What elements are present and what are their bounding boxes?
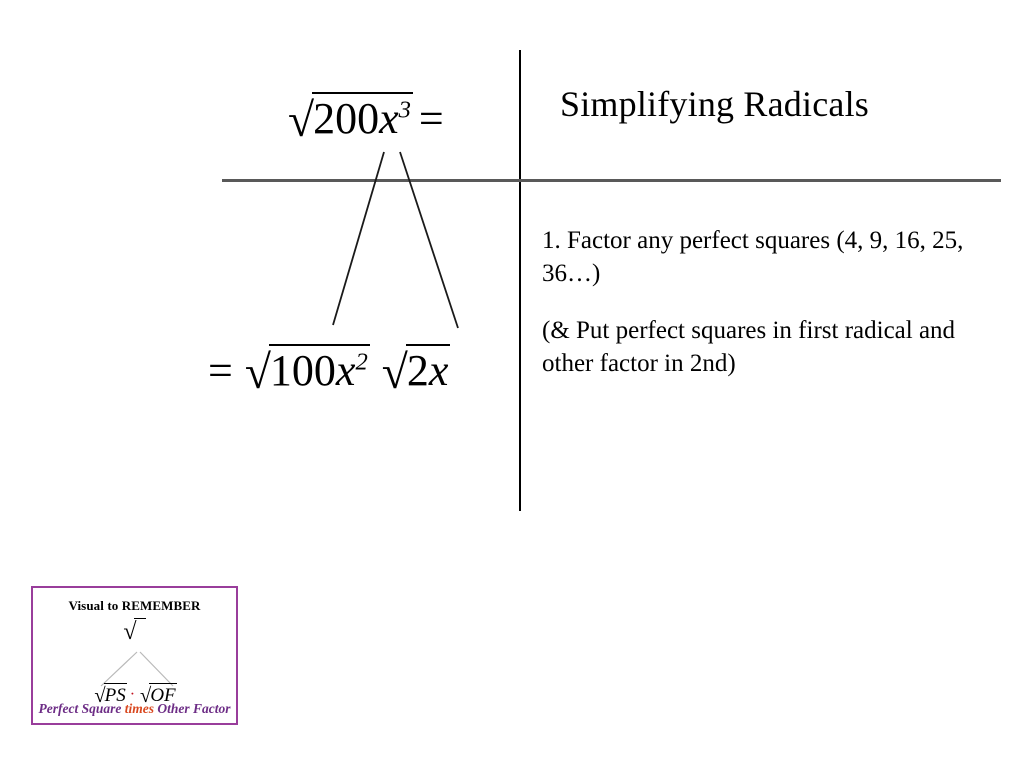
visual-root-symbol: √ — [33, 618, 236, 646]
radicand-exponent: 2 — [355, 349, 367, 376]
radicand-number: 200 — [313, 94, 379, 143]
equation-line-1: √200x3= — [286, 92, 450, 145]
visual-box-caption: Perfect Square times Other Factor — [33, 701, 236, 717]
radicand-100x2: 100x2 — [269, 344, 370, 393]
radicand-variable: x — [429, 346, 449, 395]
radicand-2x: 2x — [406, 344, 451, 393]
radicand-variable: x — [336, 346, 356, 395]
caption-part-times: times — [125, 701, 154, 716]
step-item-2: (& Put perfect squares in first radical … — [542, 314, 982, 380]
caption-part-perfect-square: Perfect Square — [39, 701, 122, 716]
page-title: Simplifying Radicals — [560, 86, 869, 124]
step-item-1: 1. Factor any perfect squares (4, 9, 16,… — [542, 224, 982, 290]
visual-box-title: Visual to REMEMBER — [33, 598, 236, 614]
radical-sign-icon: √ — [382, 350, 408, 398]
equals-sign-line-2: = — [208, 349, 243, 393]
radicand-200x3: 200x3 — [312, 92, 413, 141]
radical-100x2: √100x2 — [243, 344, 370, 397]
radicand-exponent: 3 — [399, 97, 411, 124]
equals-sign-line-1: = — [413, 97, 450, 141]
radical-sign-icon: √ — [245, 350, 271, 398]
equation-line-2: =√100x2√2x — [208, 344, 450, 397]
radical-sign-icon: √ — [288, 98, 314, 146]
caption-part-other-factor: Other Factor — [157, 701, 230, 716]
visual-to-remember-box: Visual to REMEMBER √ √PS·√OF Perfect Squ… — [31, 586, 238, 725]
radical-200x3: √200x3 — [286, 92, 413, 145]
radicand-variable: x — [379, 94, 399, 143]
radicand-number: 100 — [270, 346, 336, 395]
steps-list: 1. Factor any perfect squares (4, 9, 16,… — [542, 224, 982, 380]
factor-tree-branch-lines — [320, 140, 480, 335]
radicand-number: 2 — [407, 346, 429, 395]
vertical-divider-line — [519, 50, 521, 511]
slide-canvas: Simplifying Radicals √200x3= =√100x2√2x … — [0, 0, 1024, 768]
radical-2x: √2x — [380, 344, 451, 397]
radical-overbar — [134, 618, 146, 619]
radical-sign-icon: √ — [123, 619, 136, 646]
